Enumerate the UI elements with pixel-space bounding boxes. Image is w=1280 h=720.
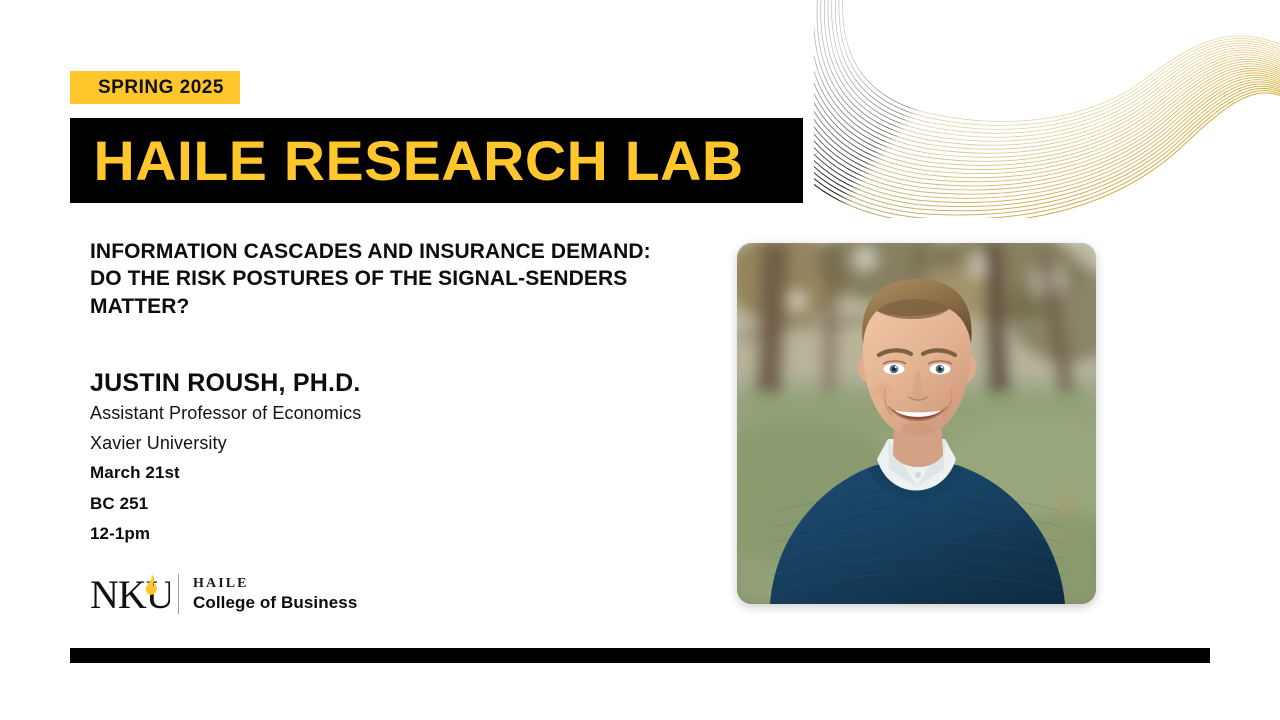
season-badge: SPRING 2025 — [70, 71, 240, 104]
concentric-wave-lines-decoration — [814, 0, 1280, 218]
logo-college-of-business-text: College of Business — [193, 592, 357, 613]
event-date: March 21st — [90, 458, 690, 488]
page-title: HAILE RESEARCH LAB — [70, 133, 744, 189]
decor-wave-line — [821, 0, 1280, 145]
decor-wave-line — [814, 0, 1280, 153]
speaker-position: Assistant Professor of Economics — [90, 398, 690, 428]
speaker-photo — [737, 243, 1096, 604]
decor-wave-line — [814, 0, 1280, 198]
decor-wave-line — [814, 0, 1280, 194]
decor-wave-line — [814, 0, 1280, 165]
decor-wave-line — [828, 0, 1280, 137]
decor-wave-line — [835, 0, 1280, 129]
decor-wave-line — [832, 0, 1280, 133]
decor-wave-line — [814, 0, 1280, 218]
decor-wave-line — [814, 0, 1280, 169]
decor-wave-line — [814, 0, 1280, 190]
decor-wave-line — [814, 0, 1280, 182]
decor-wave-line — [817, 0, 1280, 149]
talk-title: INFORMATION CASCADES AND INSURANCE DEMAN… — [90, 238, 670, 320]
bottom-rule — [70, 648, 1210, 663]
speaker-block: JUSTIN ROUSH, PH.D. Assistant Professor … — [90, 368, 690, 549]
speaker-affiliation: Xavier University — [90, 428, 690, 458]
decor-wave-line — [814, 0, 1280, 157]
event-time: 12-1pm — [90, 519, 690, 549]
speaker-name: JUSTIN ROUSH, PH.D. — [90, 368, 690, 398]
decor-wave-line — [814, 0, 1280, 215]
event-details-list: March 21st BC 251 12-1pm — [90, 458, 690, 549]
decor-wave-line — [814, 0, 1280, 207]
decor-wave-line — [814, 0, 1280, 211]
logo-divider — [178, 574, 179, 614]
logo-wordmark-text: HAILE College of Business — [193, 575, 357, 614]
decor-wave-line — [814, 0, 1280, 174]
decor-wave-line — [824, 0, 1280, 141]
logo-haile-text: HAILE — [193, 575, 357, 593]
nku-wordmark: NKU — [90, 572, 170, 616]
svg-text:NKU: NKU — [90, 572, 170, 616]
nku-haile-logo: NKU HAILE College of Business — [90, 570, 357, 618]
decor-wave-line — [839, 0, 1280, 125]
decor-wave-line — [814, 0, 1280, 218]
event-location: BC 251 — [90, 489, 690, 519]
decor-wave-line — [814, 0, 1280, 186]
decor-wave-line — [814, 0, 1280, 202]
seminar-flyer-slide: SPRING 2025 HAILE RESEARCH LAB INFORMATI… — [0, 0, 1280, 720]
content-column: INFORMATION CASCADES AND INSURANCE DEMAN… — [90, 238, 690, 549]
title-bar: HAILE RESEARCH LAB — [70, 118, 803, 203]
decor-wave-line — [814, 0, 1280, 161]
decor-wave-line — [843, 0, 1280, 121]
decor-wave-line — [814, 0, 1280, 178]
